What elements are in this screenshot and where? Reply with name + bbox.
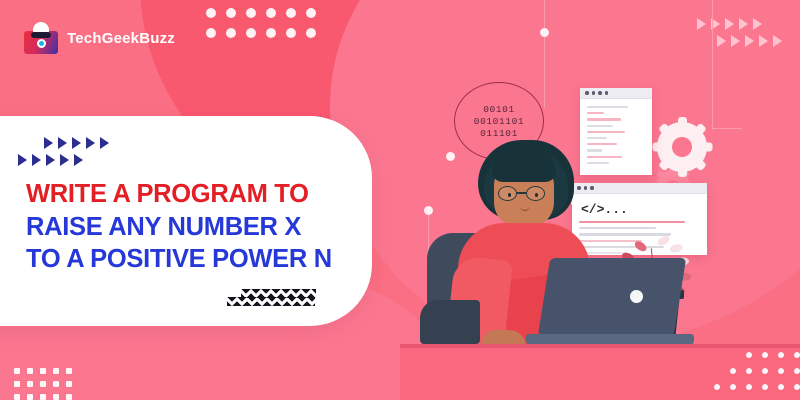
glasses-icon xyxy=(496,186,554,201)
dot xyxy=(53,381,59,387)
window-dot xyxy=(585,91,589,95)
code-line xyxy=(587,125,613,127)
code-line xyxy=(579,221,685,223)
dot xyxy=(40,381,46,387)
dot xyxy=(206,28,216,38)
dot xyxy=(730,384,736,390)
dot xyxy=(27,381,33,387)
dot xyxy=(206,8,216,18)
dot xyxy=(14,368,20,374)
headline-line-2: Raise Any Number X xyxy=(26,211,356,244)
triangle-icon xyxy=(60,154,69,166)
code-glyph: </>... xyxy=(581,203,700,216)
dot xyxy=(286,8,296,18)
dot-grid-bottom-left xyxy=(14,368,72,400)
dot xyxy=(66,368,72,374)
dot xyxy=(14,394,20,400)
dot xyxy=(746,352,752,358)
window-dot xyxy=(605,91,609,95)
window-dot xyxy=(584,186,588,190)
dot xyxy=(286,28,296,38)
circuit-trace xyxy=(544,0,545,108)
dot xyxy=(794,384,800,390)
triangle-icon xyxy=(74,154,83,166)
arrow-row xyxy=(18,154,109,166)
arrow-cluster-navy xyxy=(18,137,109,166)
dot xyxy=(66,381,72,387)
dot xyxy=(40,368,46,374)
code-line xyxy=(587,137,607,139)
code-line xyxy=(579,227,656,229)
code-line xyxy=(587,112,604,114)
dot xyxy=(306,8,316,18)
window-titlebar xyxy=(572,183,707,194)
circuit-trace xyxy=(712,128,742,129)
window-titlebar xyxy=(580,88,652,99)
gear-icon xyxy=(657,122,707,172)
mascot-eyes xyxy=(31,32,51,38)
binary-line: 011101 xyxy=(480,128,518,139)
eye-left xyxy=(508,193,511,197)
triangle-icon xyxy=(86,137,95,149)
dot xyxy=(226,8,236,18)
code-line xyxy=(587,118,621,120)
dot xyxy=(778,352,784,358)
dot xyxy=(246,28,256,38)
window-dot xyxy=(592,91,596,95)
dot xyxy=(266,8,276,18)
banner-graphic: TechGeekBuzz 00101 00101101 011101 xyxy=(0,0,800,400)
brand-logo[interactable]: TechGeekBuzz xyxy=(24,22,175,54)
code-line xyxy=(579,240,642,242)
window-body xyxy=(580,99,652,164)
gear-hole xyxy=(672,137,692,157)
brand-name: TechGeekBuzz xyxy=(67,30,175,47)
dot xyxy=(27,368,33,374)
headline-line-1: Write a Program to xyxy=(26,178,356,211)
code-line xyxy=(587,106,628,108)
window-dot xyxy=(590,186,594,190)
mascot-badge xyxy=(37,39,46,48)
dot xyxy=(746,384,752,390)
dot xyxy=(762,384,768,390)
code-line xyxy=(587,149,602,151)
dot xyxy=(730,368,736,374)
triangle-icon xyxy=(32,154,41,166)
glasses-bridge xyxy=(517,192,526,194)
triangle-icon xyxy=(58,137,67,149)
dot xyxy=(762,368,768,374)
dot-grid-top xyxy=(206,8,316,38)
dot xyxy=(762,352,768,358)
illustration: 00101 00101101 011101 xyxy=(420,0,800,400)
laptop-logo xyxy=(630,290,643,303)
laptop-screen xyxy=(538,258,686,336)
zigzag-underline xyxy=(227,297,315,306)
triangle-icon xyxy=(72,137,81,149)
dot xyxy=(746,368,752,374)
dot xyxy=(794,352,800,358)
dot xyxy=(40,394,46,400)
code-line xyxy=(579,233,671,235)
techgeekbuzz-mascot-icon xyxy=(24,22,58,54)
circuit-trace xyxy=(712,0,713,130)
dot xyxy=(778,384,784,390)
dot xyxy=(66,394,72,400)
triangle-icon xyxy=(46,154,55,166)
code-line xyxy=(587,162,609,164)
eye-right xyxy=(535,193,538,197)
hair-front xyxy=(492,152,556,182)
headline-line-3: To a Positive Power N xyxy=(26,243,356,276)
chair-armrest xyxy=(420,300,480,344)
dot xyxy=(226,28,236,38)
document-window xyxy=(580,88,652,175)
circuit-node xyxy=(540,28,549,37)
dot xyxy=(53,394,59,400)
dot xyxy=(714,384,720,390)
code-line xyxy=(587,143,617,145)
triangle-icon xyxy=(100,137,109,149)
arrow-row xyxy=(44,137,109,149)
triangle-icon xyxy=(18,154,27,166)
circuit-node xyxy=(446,152,455,161)
page-title: Write a Program to Raise Any Number X To… xyxy=(26,178,356,276)
window-dot xyxy=(577,186,581,190)
triangle-icon xyxy=(44,137,53,149)
circuit-node xyxy=(424,206,433,215)
dot xyxy=(53,368,59,374)
dot xyxy=(246,8,256,18)
dot xyxy=(27,394,33,400)
binary-line: 00101101 xyxy=(474,116,524,127)
binary-line: 00101 xyxy=(483,104,515,115)
dot xyxy=(266,28,276,38)
dot xyxy=(14,381,20,387)
code-line xyxy=(587,156,622,158)
dot xyxy=(306,28,316,38)
dot xyxy=(794,368,800,374)
dot-grid-bottom-right xyxy=(714,352,800,400)
code-line xyxy=(587,131,625,133)
dot xyxy=(778,368,784,374)
window-dot xyxy=(598,91,602,95)
